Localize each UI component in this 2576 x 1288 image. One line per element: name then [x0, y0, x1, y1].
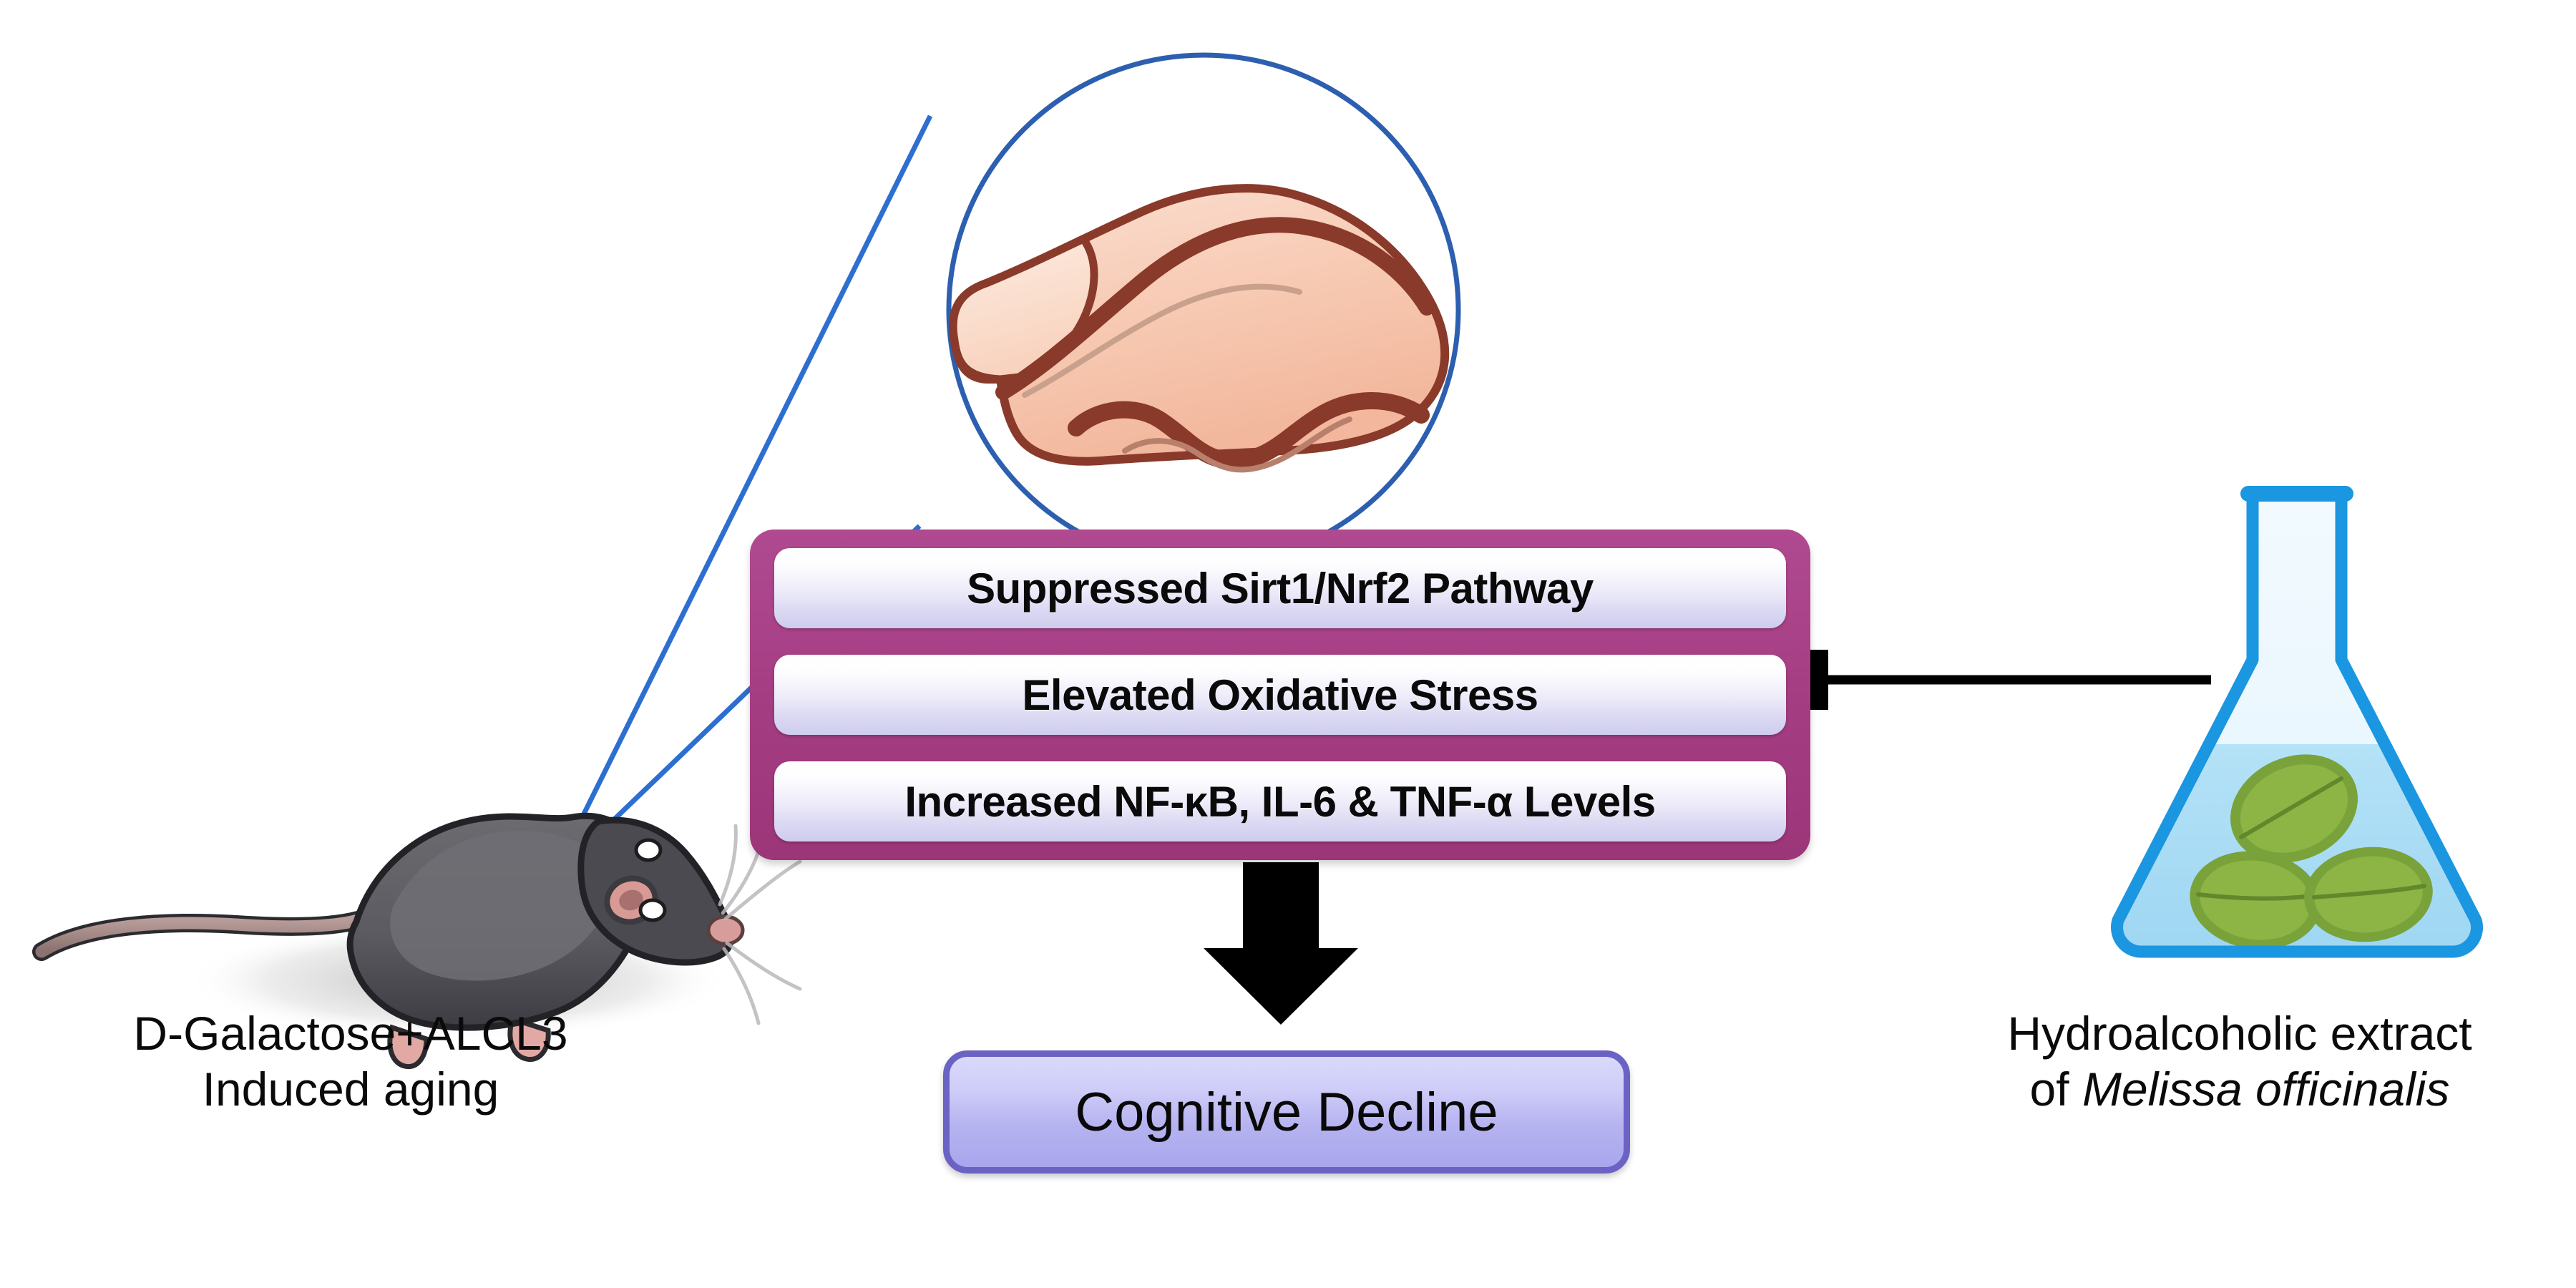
- pathway-item-inflammatory-markers: Increased NF-κB, IL-6 & TNF-α Levels: [774, 761, 1786, 841]
- pathway-item-sirt1-nrf2: Suppressed Sirt1/Nrf2 Pathway: [774, 548, 1786, 628]
- mouse-nose: [708, 917, 743, 944]
- down-arrow-icon: [1204, 862, 1358, 1025]
- model-caption-line1: D-Galactose+ALCL3: [50, 1006, 651, 1062]
- treatment-caption-line2: of Melissa officinalis: [1925, 1062, 2555, 1118]
- mouse-eye: [640, 900, 665, 920]
- pathway-item-label: Increased NF-κB, IL-6 & TNF-α Levels: [904, 777, 1655, 826]
- brain-circle: [907, 52, 1500, 568]
- model-caption: D-Galactose+ALCL3 Induced aging: [50, 1006, 651, 1118]
- treatment-caption-line1: Hydroalcoholic extract: [1925, 1006, 2555, 1062]
- cognitive-decline-box: Cognitive Decline: [943, 1050, 1630, 1174]
- mouse-tail: [42, 920, 358, 952]
- pathway-item-label: Suppressed Sirt1/Nrf2 Pathway: [967, 564, 1594, 613]
- callout-focus-circle: [514, 852, 574, 912]
- mouse-head: [581, 820, 731, 962]
- graphical-abstract: Suppressed Sirt1/Nrf2 Pathway Elevated O…: [0, 0, 2576, 1288]
- cognitive-decline-label: Cognitive Decline: [1075, 1081, 1498, 1143]
- model-caption-line2: Induced aging: [50, 1062, 651, 1118]
- treatment-caption: Hydroalcoholic extract of Melissa offici…: [1925, 1006, 2555, 1118]
- pathway-item-label: Elevated Oxidative Stress: [1022, 670, 1538, 720]
- mouse-body: [350, 816, 648, 1028]
- mouse-eye: [636, 840, 660, 860]
- mouse-ear: [601, 872, 660, 928]
- pathway-item-oxidative-stress: Elevated Oxidative Stress: [774, 655, 1786, 735]
- treatment-caption-prefix: of: [2030, 1063, 2082, 1116]
- erlenmeyer-flask-icon: [2075, 465, 2519, 973]
- mouse-back-highlight: [390, 831, 610, 980]
- treatment-species-name: Melissa officinalis: [2082, 1063, 2450, 1116]
- pathway-box: Suppressed Sirt1/Nrf2 Pathway Elevated O…: [750, 530, 1810, 860]
